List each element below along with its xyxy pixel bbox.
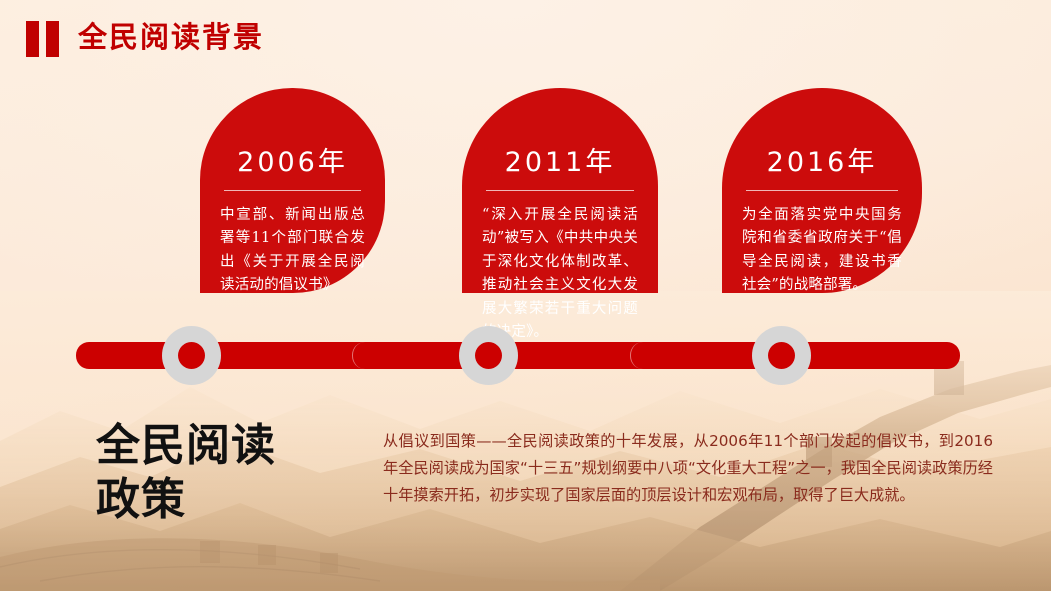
footer-heading-line-1: 全民阅读 [96,419,346,473]
slide-header: 全民阅读背景 [0,0,1051,80]
timeline-dot-2006[interactable] [162,326,221,385]
header-accent-bars [26,21,59,57]
milestone-year-label: 2016年 [742,140,902,179]
milestone-description: 为全面落实党中央国务院和省委省政府关于“倡导全民阅读，建设书香社会”的战略部署。 [742,204,902,298]
milestone-year-label: 2006年 [220,140,365,179]
page-title: 全民阅读背景 [78,14,264,56]
footer-heading-line-2: 政策 [96,473,346,527]
milestone-divider [486,190,634,191]
slide-canvas: 全民阅读背景 2006年 中宣部、新闻出版总署等11个部门联合发出《关于开展全民… [0,0,1051,591]
milestone-divider [224,190,361,191]
milestone-year-label: 2011年 [482,140,638,179]
timeline [0,312,1051,398]
timeline-segment-divider [630,342,656,369]
timeline-segment-divider [352,342,378,369]
accent-bar-icon [26,21,39,57]
milestone-card-2006[interactable]: 2006年 中宣部、新闻出版总署等11个部门联合发出《关于开展全民阅读活动的倡议… [200,88,385,293]
milestone-description: 中宣部、新闻出版总署等11个部门联合发出《关于开展全民阅读活动的倡议书》 [220,204,365,298]
timeline-dot-2011[interactable] [459,326,518,385]
milestone-card-2011[interactable]: 2011年 “深入开展全民阅读活动”被写入《中共中央关于深化文化体制改革、推动社… [462,88,658,293]
accent-bar-icon [46,21,59,57]
footer-heading: 全民阅读 政策 [96,419,346,526]
timeline-dot-2016[interactable] [752,326,811,385]
footer-paragraph: 从倡议到国策——全民阅读政策的十年发展，从2006年11个部门发起的倡议书，到2… [383,428,993,509]
milestone-divider [746,190,898,191]
milestone-card-2016[interactable]: 2016年 为全面落实党中央国务院和省委省政府关于“倡导全民阅读，建设书香社会”… [722,88,922,293]
